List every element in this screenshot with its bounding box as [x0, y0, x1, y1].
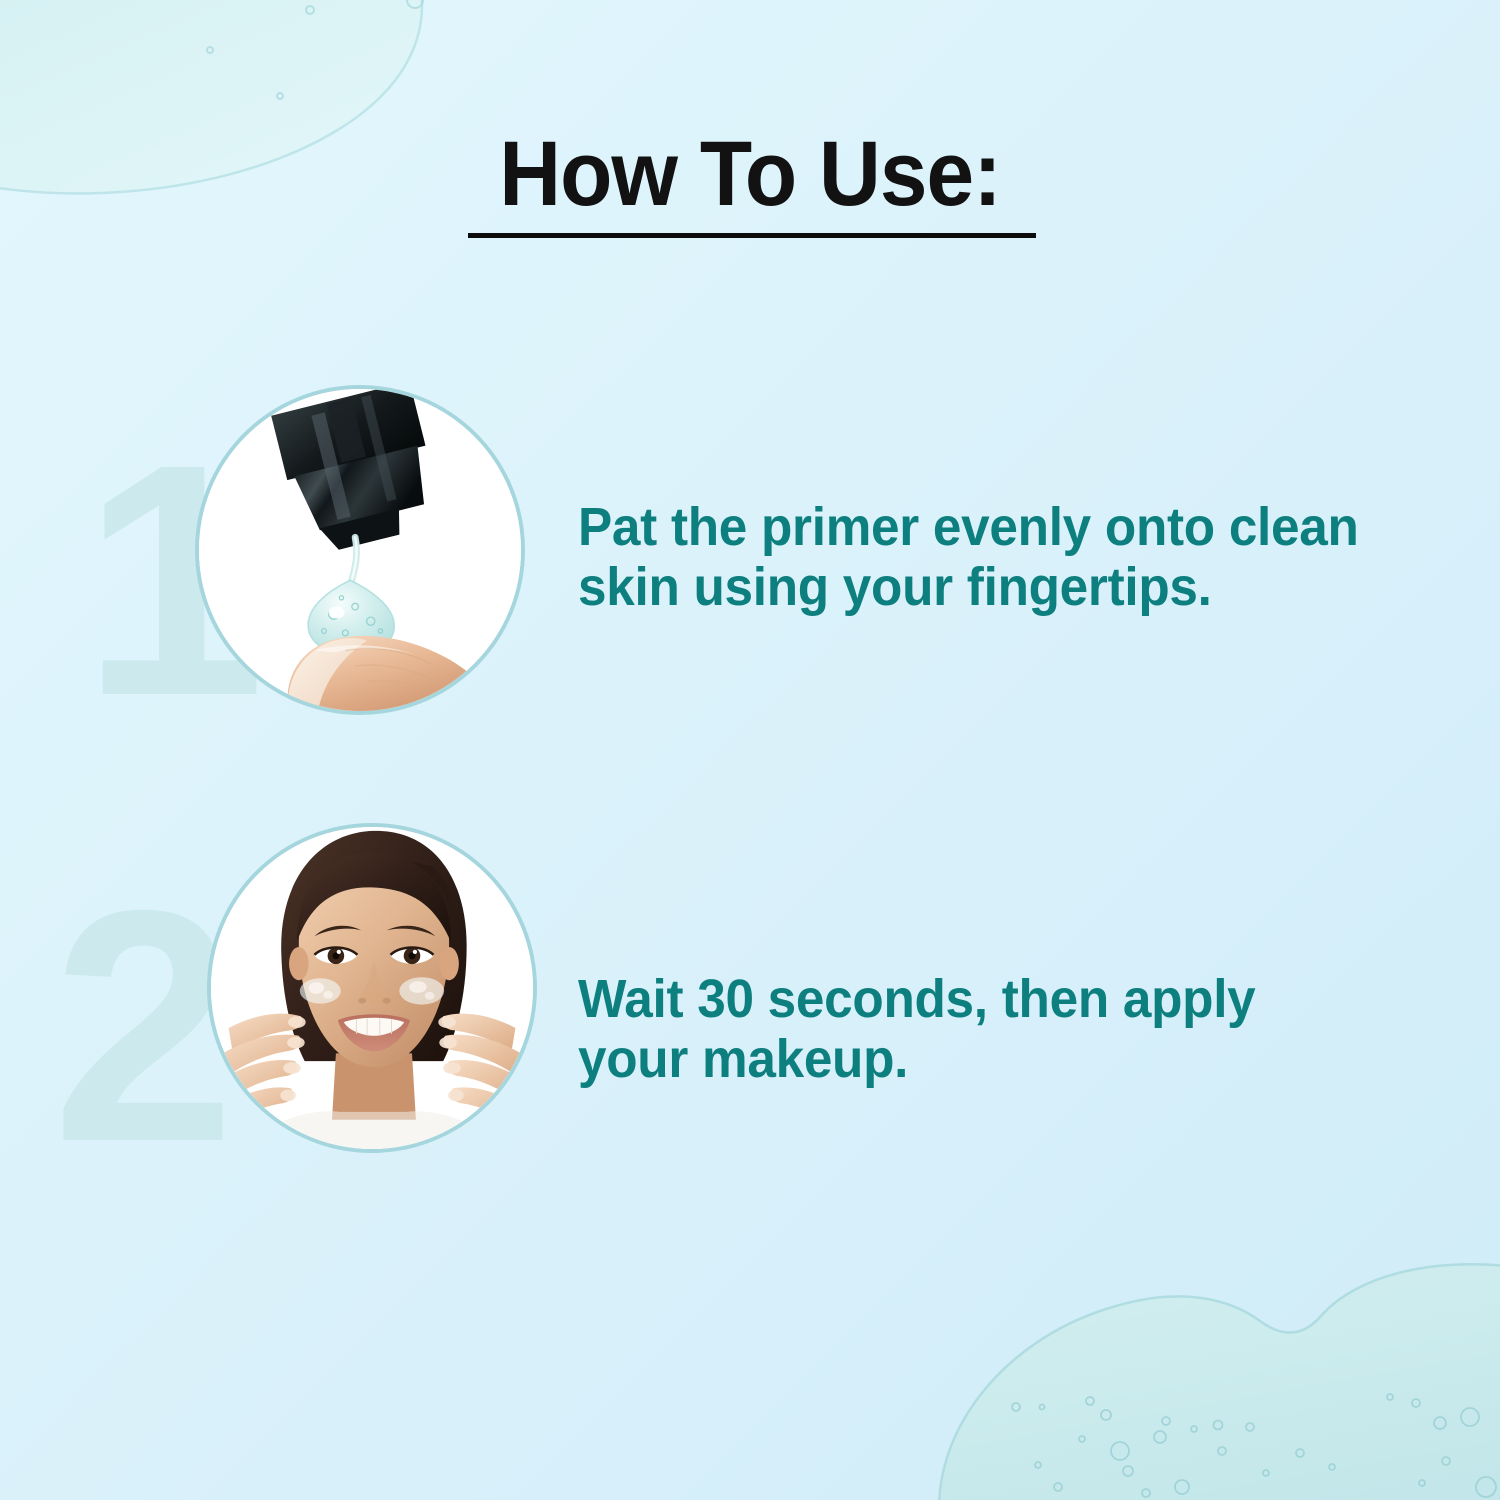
gel-blob-bottom-right-icon: [930, 1225, 1500, 1500]
page-title: How To Use:: [53, 128, 1448, 220]
step-2-ghost-number: 2: [52, 861, 236, 1191]
page-title-block: How To Use:: [0, 128, 1500, 220]
step-2-image: [207, 823, 537, 1153]
page-title-underline: [468, 233, 1036, 238]
step-1-image: [195, 385, 525, 715]
step-2-text: Wait 30 seconds, then apply your makeup.: [578, 969, 1376, 1089]
step-1-text: Pat the primer evenly onto clean skin us…: [578, 497, 1376, 617]
how-to-use-infographic: How To Use: 1: [0, 0, 1500, 1500]
